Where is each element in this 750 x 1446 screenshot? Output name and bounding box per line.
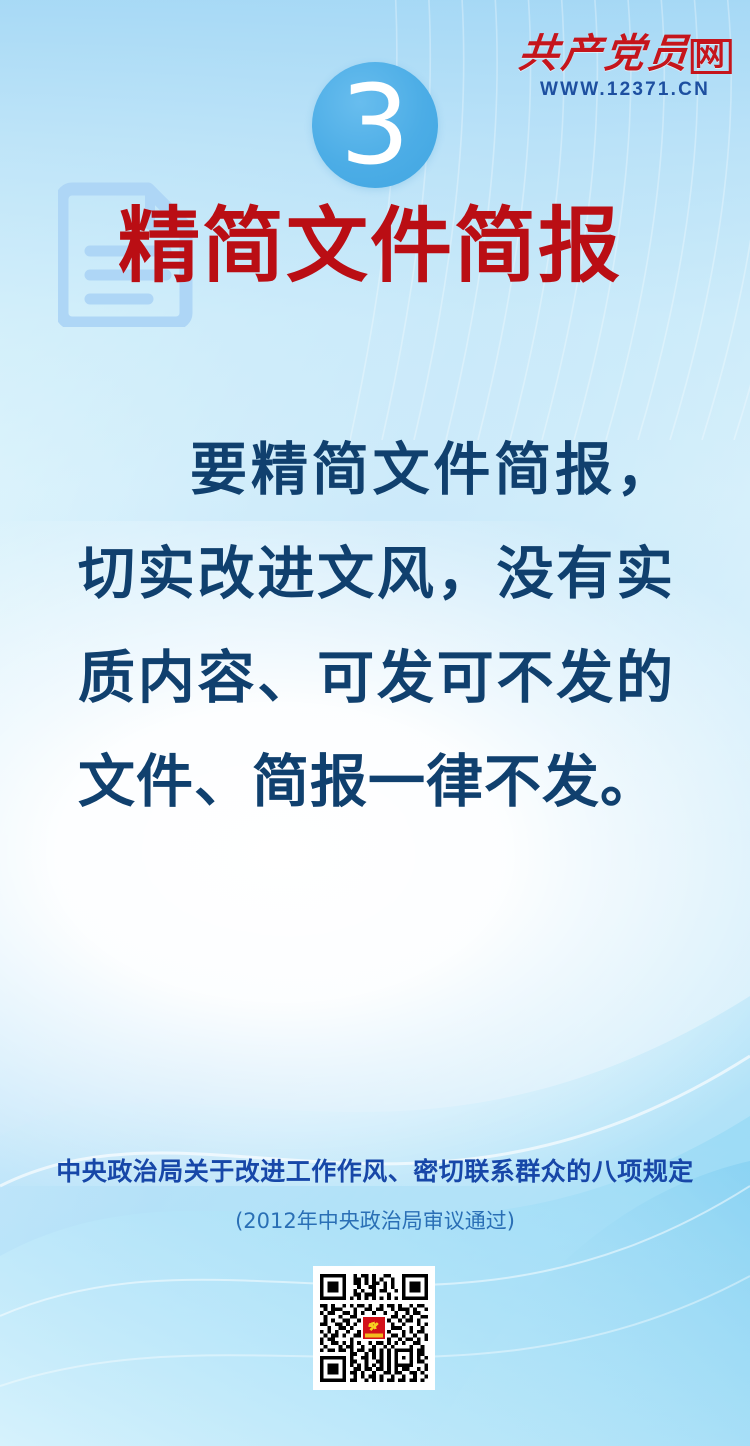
logo-url: WWW.12371.CN [516,80,734,99]
section-number-badge: 3 [312,62,438,188]
qr-code-image [320,1273,428,1383]
logo-wordmark: 共产党员网 [514,34,736,74]
party-emblem-icon [361,1315,387,1341]
body-paragraph: 要精简文件简报，切实改进文风，没有实质内容、可发可不发的文件、简报一律不发。 [78,418,674,834]
regulation-subtitle: (2012年中央政治局审议通过) [0,1205,750,1235]
regulation-title: 中央政治局关于改进工作作风、密切联系群众的八项规定 [0,1152,750,1188]
qr-code[interactable] [313,1266,435,1390]
page-title: 精简文件简报 [118,204,678,290]
section-number: 3 [312,62,438,188]
poster-canvas: 共产党员网 WWW.12371.CN 3 精简文件简报 要精简文件简报，切实改进… [0,0,750,1446]
logo-wordmark-text: 共产党员 [516,30,693,77]
logo-boxed-char: 网 [690,39,731,74]
site-logo[interactable]: 共产党员网 WWW.12371.CN [516,34,734,99]
